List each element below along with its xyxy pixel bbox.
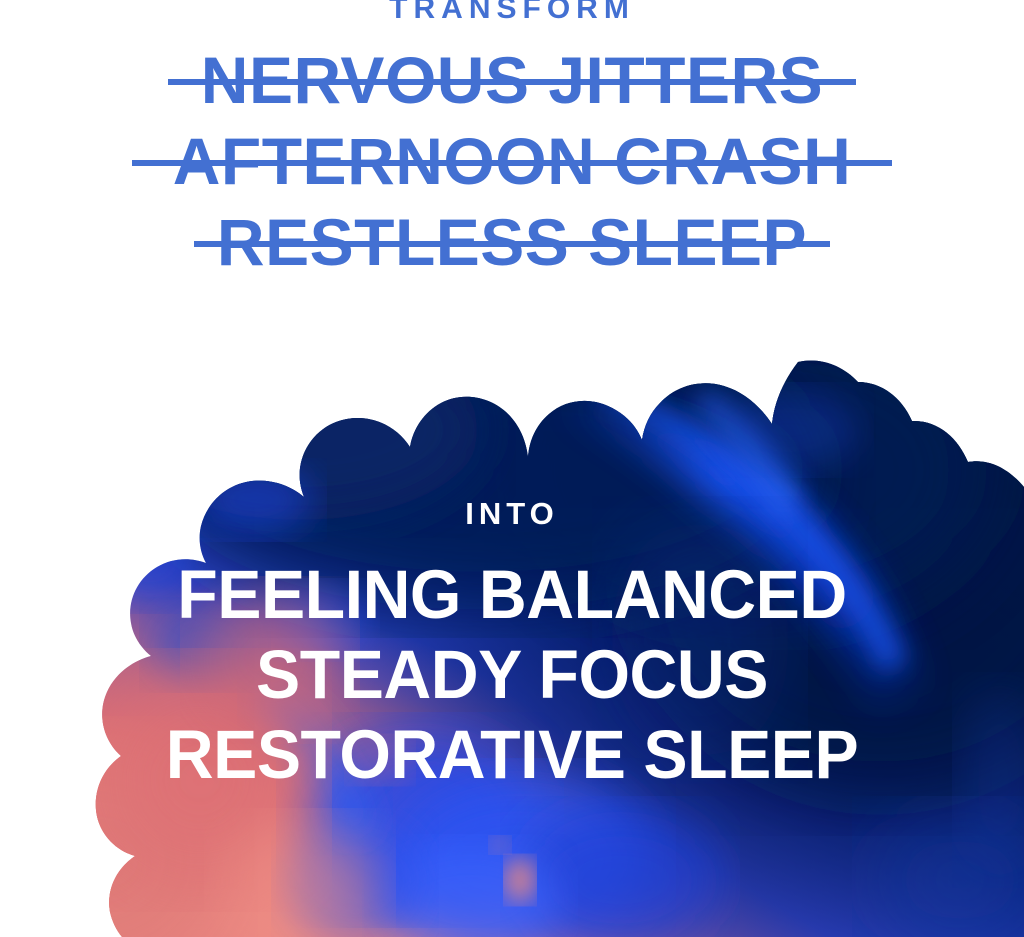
- benefit-item-steady-focus: STEADY FOCUS: [20, 635, 1003, 715]
- before-state-block: TRANSFORM NERVOUS JITTERS AFTERNOON CRAS…: [0, 0, 1024, 283]
- benefit-list: FEELING BALANCED STEADY FOCUS RESTORATIV…: [0, 555, 1024, 795]
- strikethrough-bar: [168, 79, 856, 85]
- struck-item-nervous-jitters: NERVOUS JITTERS: [0, 40, 1024, 121]
- promotional-poster: TRANSFORM NERVOUS JITTERS AFTERNOON CRAS…: [0, 0, 1024, 937]
- struck-item-afternoon-crash: AFTERNOON CRASH: [0, 121, 1024, 202]
- benefit-item-feeling-balanced: FEELING BALANCED: [20, 555, 1003, 635]
- after-state-block: INTO FEELING BALANCED STEADY FOCUS RESTO…: [0, 497, 1024, 795]
- transform-eyebrow-label: TRANSFORM: [0, 0, 1024, 24]
- struck-problem-list: NERVOUS JITTERS AFTERNOON CRASH RESTLESS…: [0, 40, 1024, 283]
- strikethrough-bar: [194, 241, 830, 247]
- into-eyebrow-label: INTO: [0, 497, 1024, 531]
- strikethrough-bar: [132, 160, 892, 166]
- benefit-item-restorative-sleep: RESTORATIVE SLEEP: [20, 715, 1003, 795]
- struck-item-restless-sleep: RESTLESS SLEEP: [0, 202, 1024, 283]
